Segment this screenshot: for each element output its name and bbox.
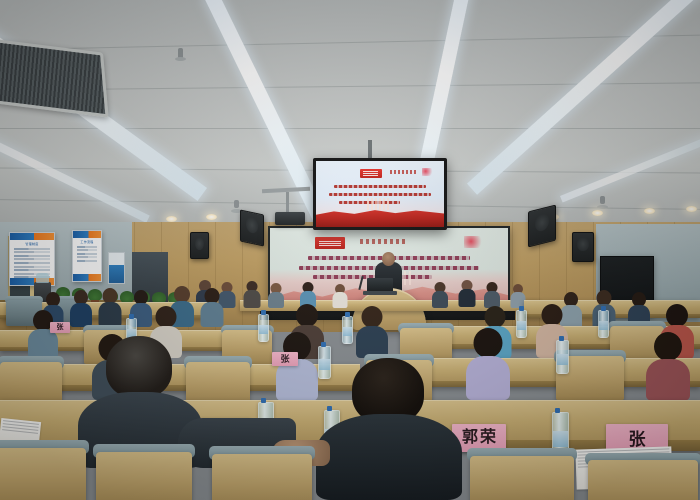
attendee (98, 288, 121, 326)
slide-ribbon-decoration (464, 236, 484, 248)
seat[interactable] (212, 454, 312, 500)
seat[interactable] (186, 362, 250, 404)
right-corner-loudspeaker (528, 205, 556, 248)
downlight-icon (592, 210, 603, 216)
presenter-head (382, 252, 395, 266)
sprinkler-icon (234, 200, 239, 208)
wall-notice-panel (108, 252, 125, 284)
poster-title: 管理制度 (10, 242, 54, 246)
water-bottle[interactable] (556, 340, 569, 374)
seat[interactable] (0, 448, 86, 500)
sprinkler-icon (600, 196, 605, 204)
downlight-icon (686, 206, 697, 212)
ceiling-projector (275, 212, 305, 225)
attendee (458, 280, 475, 306)
slide-logo-subtext (360, 239, 406, 244)
slide-text-line (334, 185, 426, 188)
attendee (432, 282, 448, 307)
slide-text-line (329, 193, 431, 196)
water-bottle[interactable] (318, 346, 331, 379)
led-display (313, 158, 447, 230)
attendee (466, 328, 510, 394)
seat[interactable] (96, 452, 192, 500)
downlight-icon (206, 214, 217, 220)
name-card: 张 (272, 352, 298, 366)
slide-logo-badge (360, 169, 382, 178)
water-bottle[interactable] (516, 310, 527, 338)
slide-logo-subtext (390, 170, 416, 174)
wall-poster-right: 工作流程 (72, 230, 102, 282)
attendee (268, 283, 284, 307)
slide-ribbon-decoration (422, 168, 434, 176)
left-corner-loudspeaker (240, 209, 264, 246)
seat[interactable] (470, 456, 574, 500)
slide-skyline-graphic (367, 198, 389, 210)
water-bottle[interactable] (258, 314, 269, 342)
attendee (243, 281, 260, 307)
name-card: 张 (50, 322, 70, 333)
poster-title: 工作流程 (73, 240, 101, 244)
slide-logo-badge (315, 237, 345, 249)
attendee (200, 288, 223, 326)
attendee (484, 282, 500, 307)
attendee (510, 284, 525, 307)
conference-room-photo: 管理制度 工作流程 (0, 0, 700, 500)
water-bottle[interactable] (598, 310, 609, 338)
attendee (28, 310, 58, 356)
attendee (332, 284, 347, 307)
seat[interactable] (588, 460, 698, 500)
air-conditioning-vent-icon (0, 38, 109, 117)
sprinkler-icon (178, 48, 183, 60)
ceiling-light-strip (467, 0, 700, 195)
seat[interactable] (0, 362, 62, 404)
ceiling-light-strip-secondary (560, 136, 700, 202)
attendee (646, 332, 690, 396)
projector-arm (286, 192, 289, 214)
right-wall-loudspeaker (572, 232, 594, 262)
downlight-icon (644, 208, 655, 214)
attendee (356, 306, 388, 356)
water-bottle[interactable] (342, 316, 353, 344)
attendee (70, 290, 92, 326)
laptop-icon (367, 278, 393, 292)
left-wall-loudspeaker (190, 232, 209, 259)
